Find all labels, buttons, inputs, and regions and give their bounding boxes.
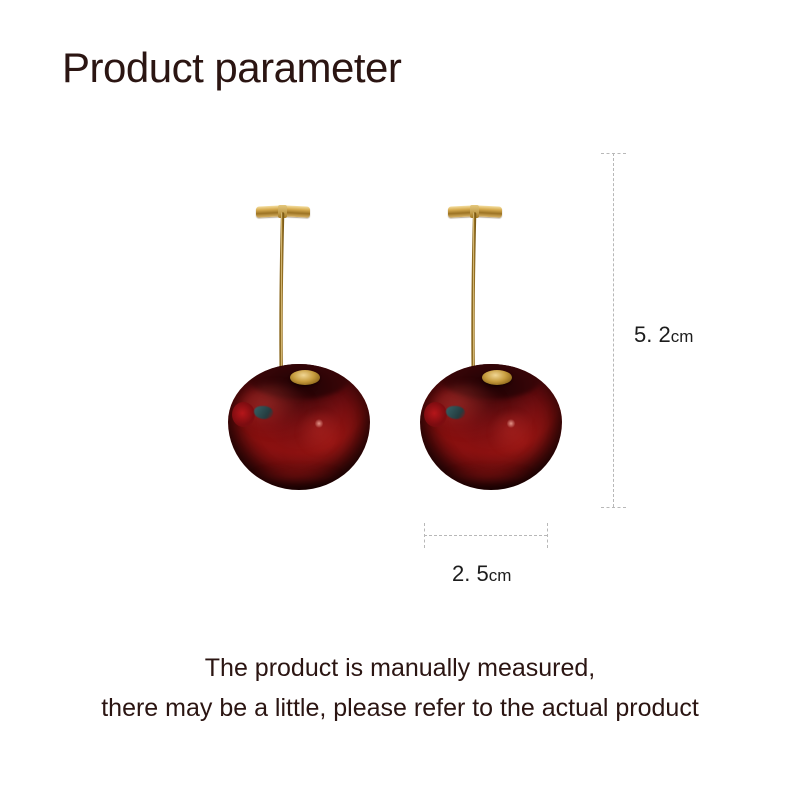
product-image-earring-left: [222, 196, 372, 496]
disclaimer-line-2: there may be a little, please refer to t…: [0, 688, 800, 728]
clasp-bar-right: [477, 205, 502, 217]
cherry-body: [228, 364, 370, 490]
height-value: 5. 2: [634, 322, 671, 347]
cherry-right-highlight: [491, 412, 534, 455]
cherry-gem-highlight: [424, 402, 447, 427]
height-dimension-tick-top: [601, 153, 626, 154]
measurement-disclaimer: The product is manually measured, there …: [0, 648, 800, 728]
disclaimer-line-1: The product is manually measured,: [0, 648, 800, 688]
height-dimension-tick-bottom: [601, 507, 626, 508]
width-dimension-tick-right: [547, 523, 548, 548]
product-parameter-page: Product parameter: [0, 0, 800, 800]
cherry-bottom-bounce: [251, 465, 342, 485]
height-dimension-line: [613, 153, 614, 507]
cherry-gem-highlight: [232, 402, 255, 427]
cherry-body: [420, 364, 562, 490]
cherry-right-highlight: [299, 412, 342, 455]
height-unit: cm: [671, 327, 694, 346]
width-value: 2. 5: [452, 561, 489, 586]
width-unit: cm: [489, 566, 512, 585]
page-title: Product parameter: [62, 44, 401, 92]
width-dimension-tick-left: [424, 523, 425, 548]
cherry-bottom-bounce: [443, 465, 534, 485]
width-dimension-line: [424, 535, 547, 536]
width-dimension-label: 2. 5cm: [452, 561, 511, 587]
product-image-earring-right: [414, 196, 564, 496]
height-dimension-label: 5. 2cm: [634, 322, 693, 348]
clasp-bar-right: [285, 205, 310, 217]
